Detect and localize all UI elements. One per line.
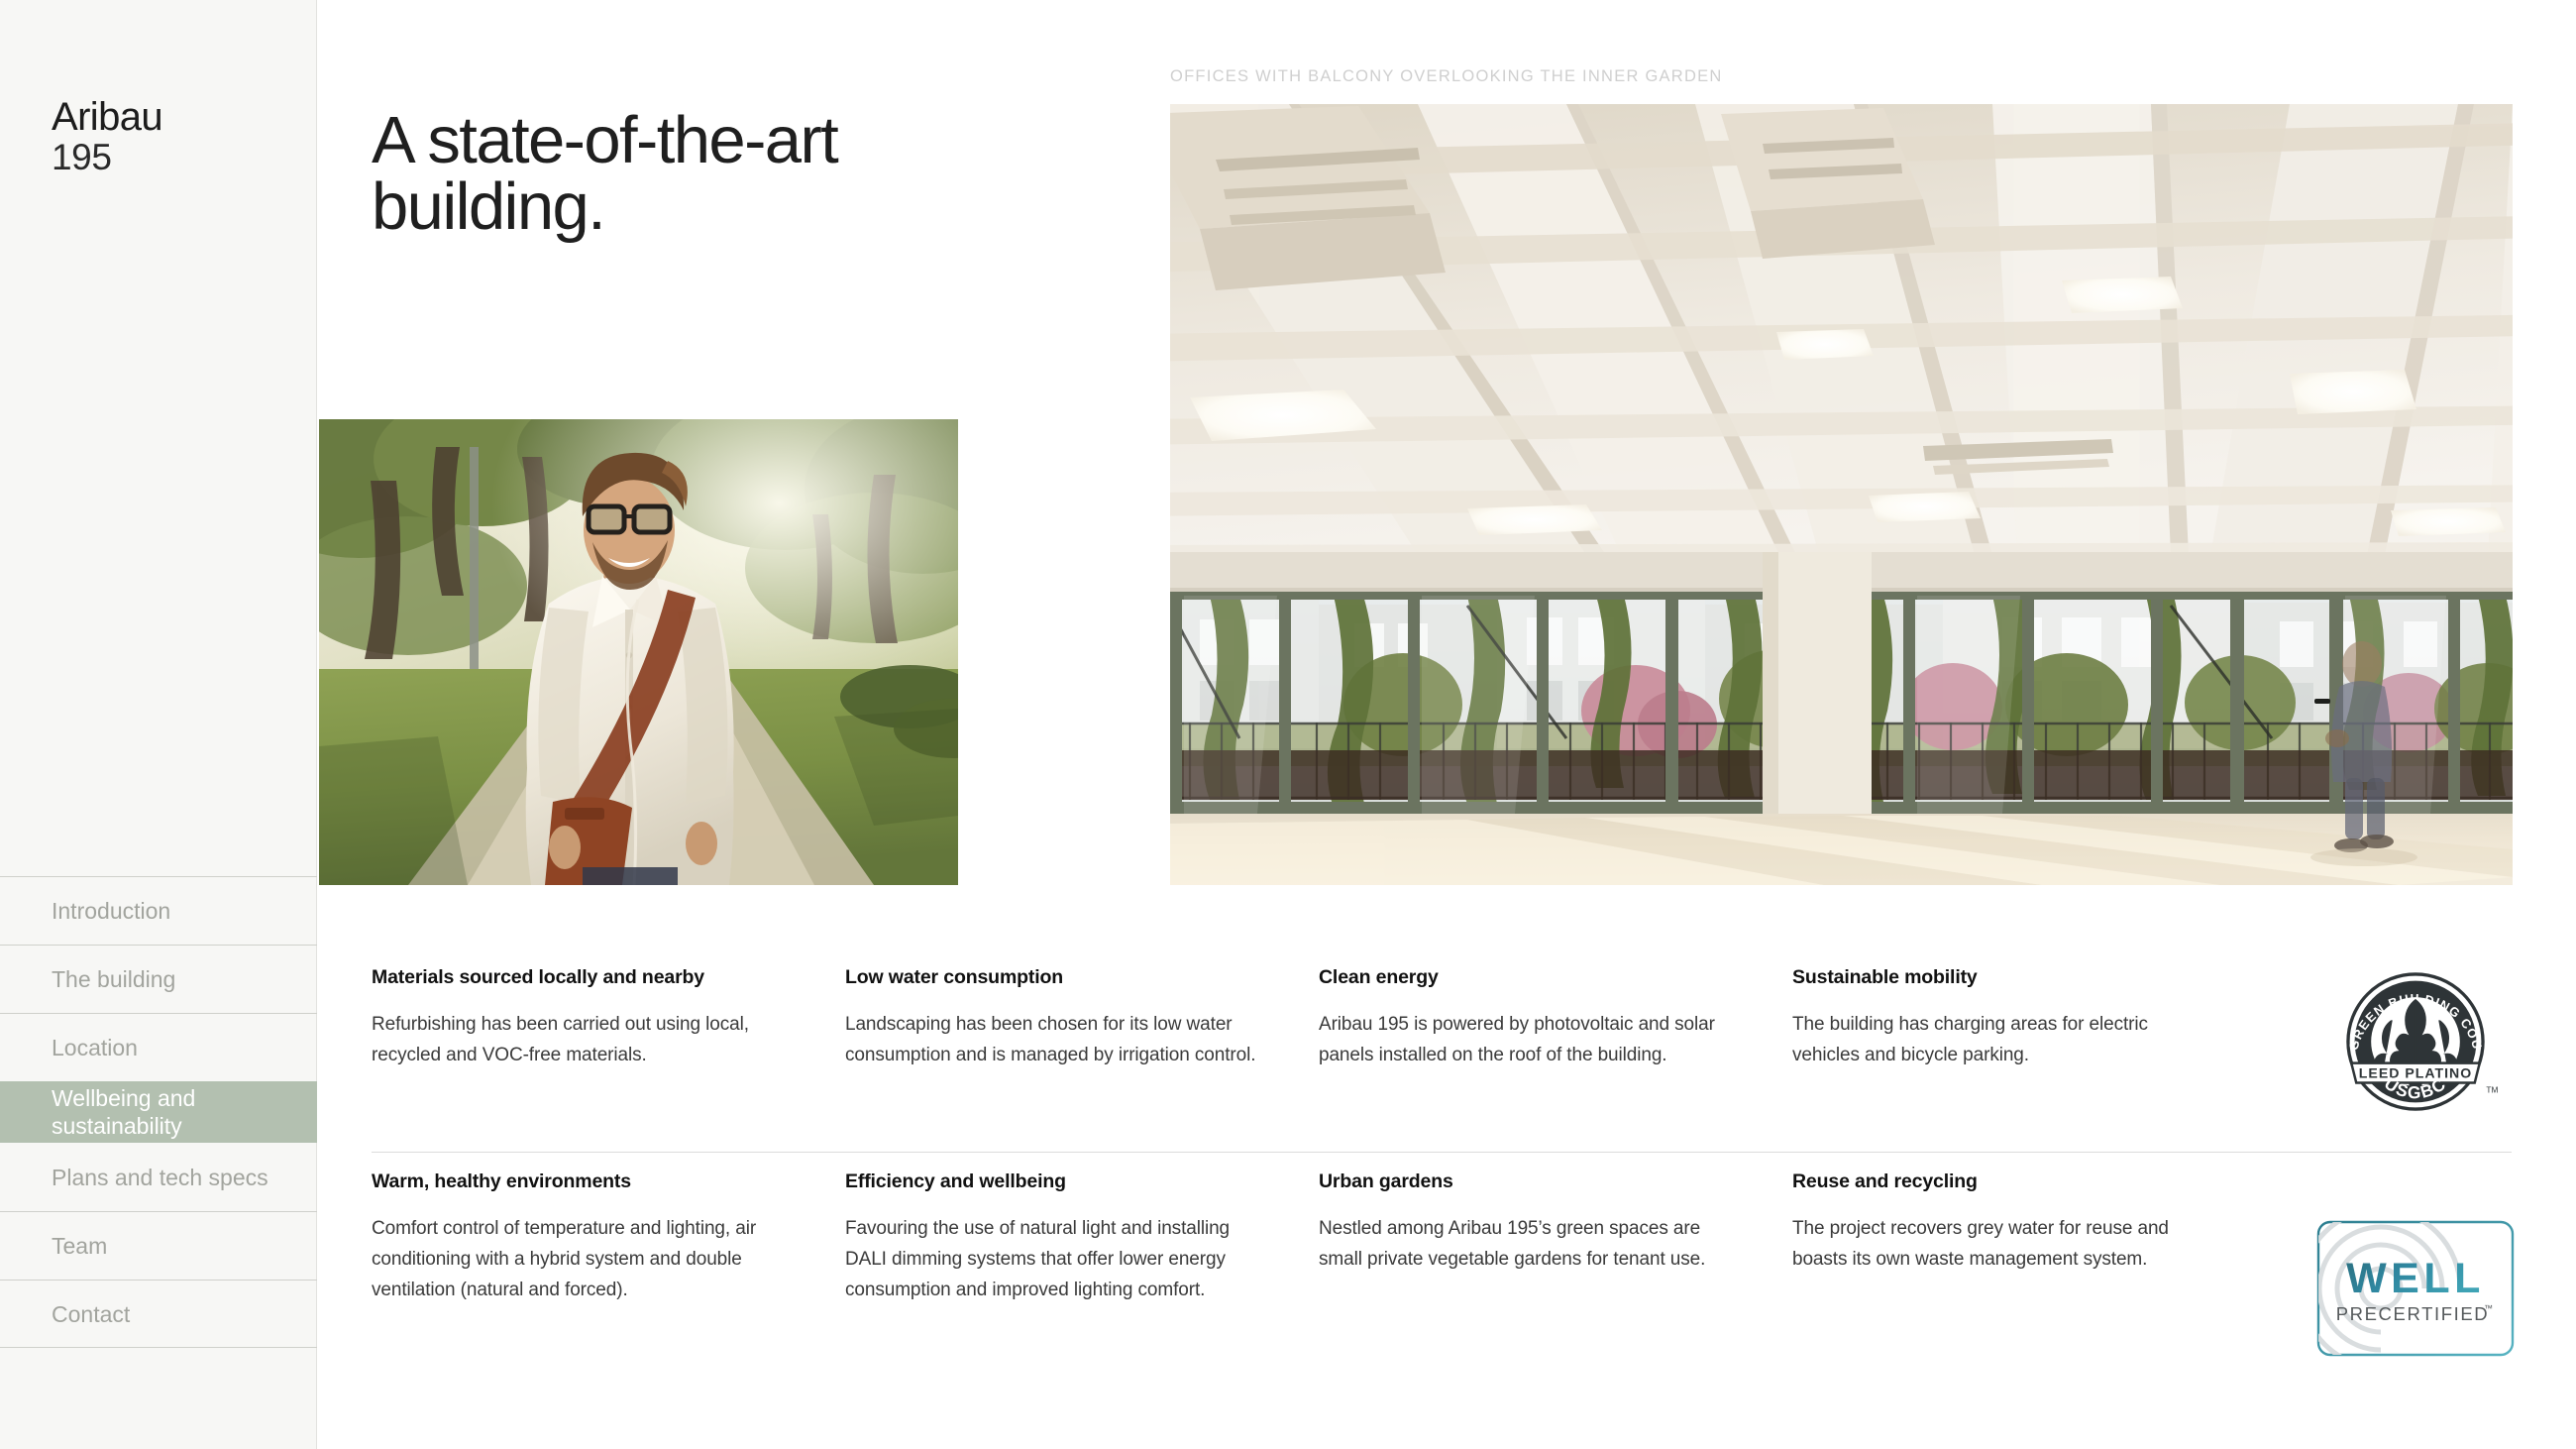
well-trademark: ™ <box>2484 1303 2493 1313</box>
sidebar-item-contact[interactable]: Contact <box>0 1280 317 1348</box>
feature-card: Efficiency and wellbeing Favouring the u… <box>845 1170 1319 1306</box>
sidebar-item-introduction[interactable]: Introduction <box>0 876 317 945</box>
sidebar-item-the-building[interactable]: The building <box>0 945 317 1013</box>
sidebar-item-label: Team <box>52 1233 107 1260</box>
feature-body: The project recovers grey water for reus… <box>1792 1214 2204 1276</box>
sidebar-item-label: Wellbeing and sustainability <box>52 1085 317 1139</box>
feature-title: Urban gardens <box>1319 1170 1731 1193</box>
sidebar-nav: Introduction The building Location Wellb… <box>0 876 317 1348</box>
sidebar-item-label: Location <box>52 1035 138 1061</box>
feature-title: Warm, healthy environments <box>372 1170 784 1193</box>
features-row-1: Materials sourced locally and nearby Ref… <box>372 966 2353 1071</box>
hero-office-image <box>1170 104 2513 885</box>
feature-body: The building has charging areas for elec… <box>1792 1010 2204 1071</box>
leed-banner-text: LEED PLATINO <box>2359 1065 2472 1081</box>
features-row-2: Warm, healthy environments Comfort contr… <box>372 1170 2353 1306</box>
feature-body: Refurbishing has been carried out using … <box>372 1010 784 1071</box>
sidebar-item-plans-and-tech-specs[interactable]: Plans and tech specs <box>0 1143 317 1211</box>
brand-name: Aribau <box>52 97 162 137</box>
hero-caption: OFFICES WITH BALCONY OVERLOOKING THE INN… <box>1170 67 1723 86</box>
portrait-image <box>319 419 958 885</box>
sidebar-item-wellbeing-and-sustainability[interactable]: Wellbeing and sustainability <box>0 1081 317 1143</box>
brand-number: 195 <box>52 139 162 175</box>
feature-title: Reuse and recycling <box>1792 1170 2204 1193</box>
feature-card: Materials sourced locally and nearby Ref… <box>372 966 845 1071</box>
feature-card: Warm, healthy environments Comfort contr… <box>372 1170 845 1306</box>
feature-title: Efficiency and wellbeing <box>845 1170 1257 1193</box>
feature-body: Nestled among Aribau 195’s green spaces … <box>1319 1214 1731 1276</box>
feature-rows-divider <box>372 1152 2512 1153</box>
feature-title: Clean energy <box>1319 966 1731 989</box>
feature-title: Materials sourced locally and nearby <box>372 966 784 989</box>
well-title: WELL <box>2346 1255 2485 1302</box>
leed-platinum-badge-icon: U.S. GREEN BUILDING COUNCIL LEED PLATINO… <box>2333 959 2498 1124</box>
feature-card: Urban gardens Nestled among Aribau 195’s… <box>1319 1170 1792 1306</box>
feature-body: Aribau 195 is powered by photovoltaic an… <box>1319 1010 1731 1071</box>
feature-body: Favouring the use of natural light and i… <box>845 1214 1257 1306</box>
feature-card: Clean energy Aribau 195 is powered by ph… <box>1319 966 1792 1071</box>
well-precertified-badge-icon: WELL PRECERTIFIED ™ <box>2315 1219 2516 1358</box>
sidebar-item-label: Plans and tech specs <box>52 1165 268 1191</box>
sidebar-item-location[interactable]: Location <box>0 1013 317 1081</box>
sidebar-item-label: Contact <box>52 1301 130 1328</box>
sidebar-item-label: Introduction <box>52 898 170 925</box>
feature-card: Sustainable mobility The building has ch… <box>1792 966 2266 1071</box>
leed-trademark: TM <box>2486 1084 2498 1094</box>
features-section: Materials sourced locally and nearby Ref… <box>372 966 2353 1306</box>
brand-logo[interactable]: Aribau 195 <box>52 97 162 175</box>
feature-card: Low water consumption Landscaping has be… <box>845 966 1319 1071</box>
feature-title: Sustainable mobility <box>1792 966 2204 989</box>
sidebar-item-team[interactable]: Team <box>0 1211 317 1280</box>
well-subtitle: PRECERTIFIED <box>2336 1303 2490 1324</box>
feature-body: Comfort control of temperature and light… <box>372 1214 784 1306</box>
sidebar: Aribau 195 Introduction The building Loc… <box>0 0 317 1449</box>
feature-body: Landscaping has been chosen for its low … <box>845 1010 1257 1071</box>
sidebar-bottom-divider <box>0 1347 317 1348</box>
feature-card: Reuse and recycling The project recovers… <box>1792 1170 2266 1306</box>
feature-title: Low water consumption <box>845 966 1257 989</box>
page-root: Aribau 195 Introduction The building Loc… <box>0 0 2576 1449</box>
sidebar-item-label: The building <box>52 966 175 993</box>
page-title: A state-of-the-art building. <box>372 107 1065 240</box>
